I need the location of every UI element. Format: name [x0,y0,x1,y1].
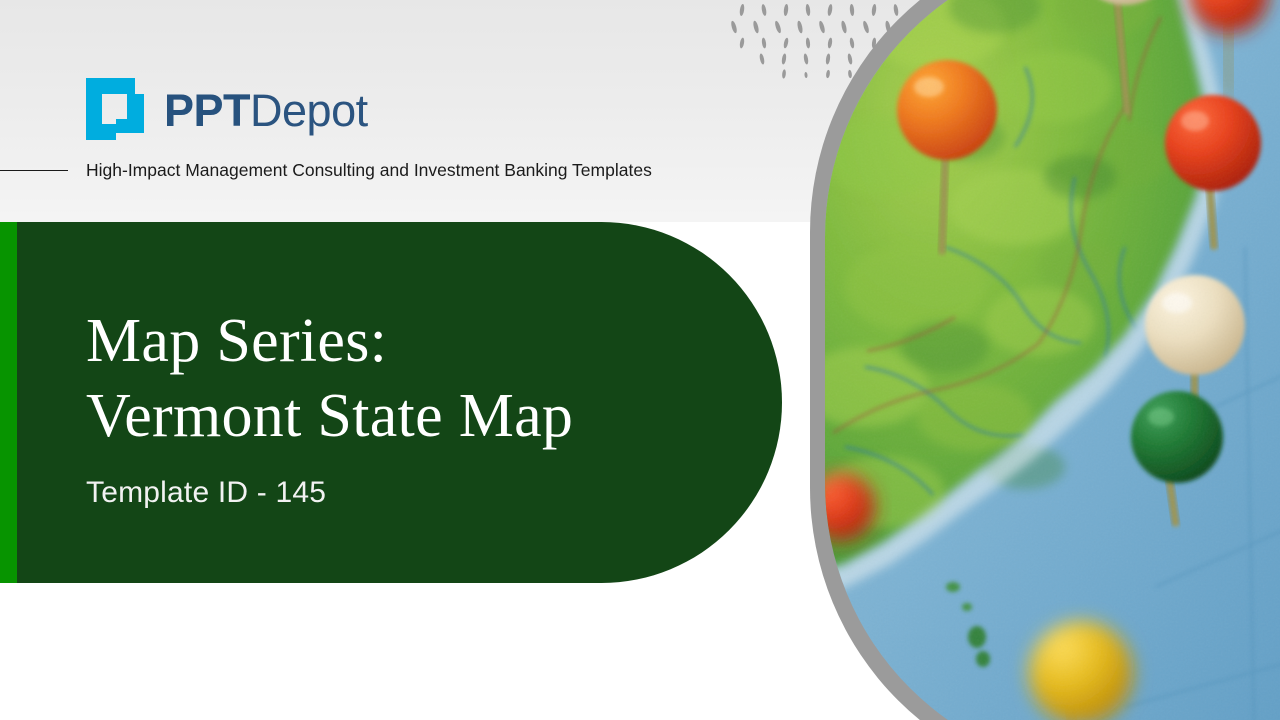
title-card: Map Series:Vermont State Map Template ID… [0,222,782,583]
title-line-2: Vermont State Map [86,382,573,450]
ppt-depot-logo-mark-icon [86,78,144,140]
tagline-text: High-Impact Management Consulting and In… [86,160,652,181]
brand-wordmark: PPTDepot [164,88,368,133]
title-line-1: Map Series: [86,307,387,375]
world-map-with-push-pins-photo-illustration [825,0,1280,720]
brand-tagline: High-Impact Management Consulting and In… [0,160,760,181]
hero-photo [810,0,1280,720]
template-id-label: Template ID - 145 [86,476,726,510]
title-block: Map Series:Vermont State Map Template ID… [86,304,726,510]
tagline-rule-divider [0,170,68,171]
page-title: Map Series:Vermont State Map [86,304,726,454]
brand-logo[interactable]: PPTDepot [86,78,368,140]
photo-arc-border [810,0,1280,720]
left-accent-bar [0,222,17,583]
brand-name-light: Depot [250,85,368,136]
photo-clip-mask [825,0,1280,720]
slide-root: PPTDepot High-Impact Management Consulti… [0,0,1280,720]
brand-name-bold: PPT [164,85,250,136]
